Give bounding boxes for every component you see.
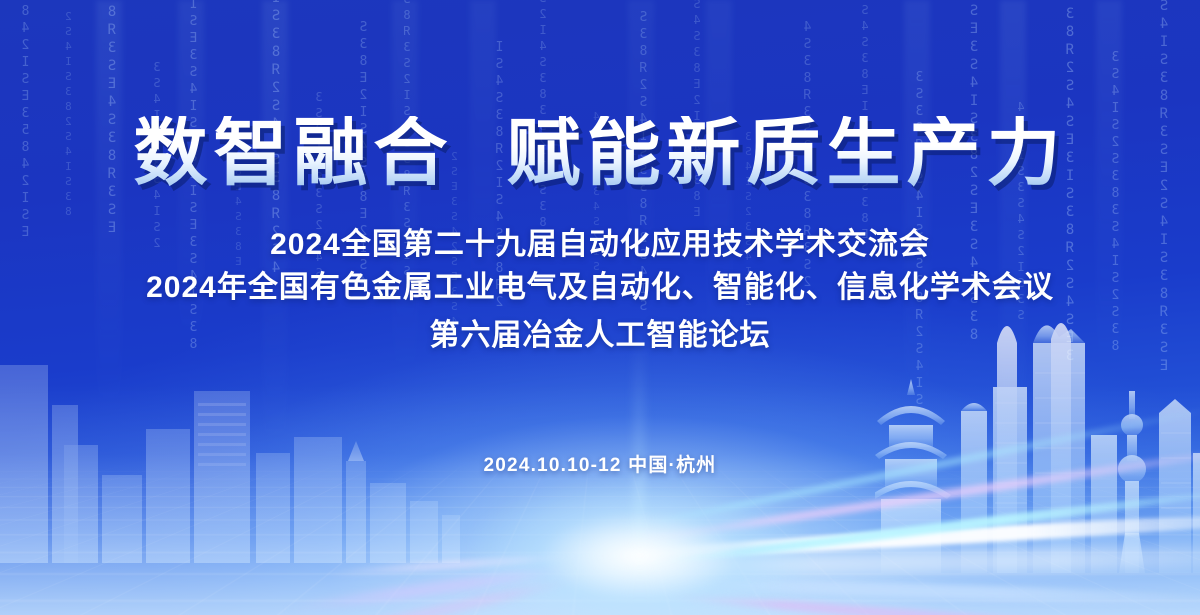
date-location: 2024.10.10-12 中国·杭州 [0,450,1200,477]
main-title: 数智融合 赋能新质生产力 [0,116,1200,190]
subtitle-line-3: 第六届冶金人工智能论坛 [0,310,1200,354]
conference-banner: 35842ISE35842ISE2S4IS382S4IS384S38Я3SE4S… [0,0,1200,615]
banner-text-content: 数智融合 赋能新质生产力 2024全国第二十九届自动化应用技术学术交流会 202… [0,0,1200,615]
subtitle-line-1: 2024全国第二十九届自动化应用技术学术交流会 [0,219,1200,263]
subtitle-line-2: 2024年全国有色金属工业电气及自动化、智能化、信息化学术会议 [0,262,1200,306]
